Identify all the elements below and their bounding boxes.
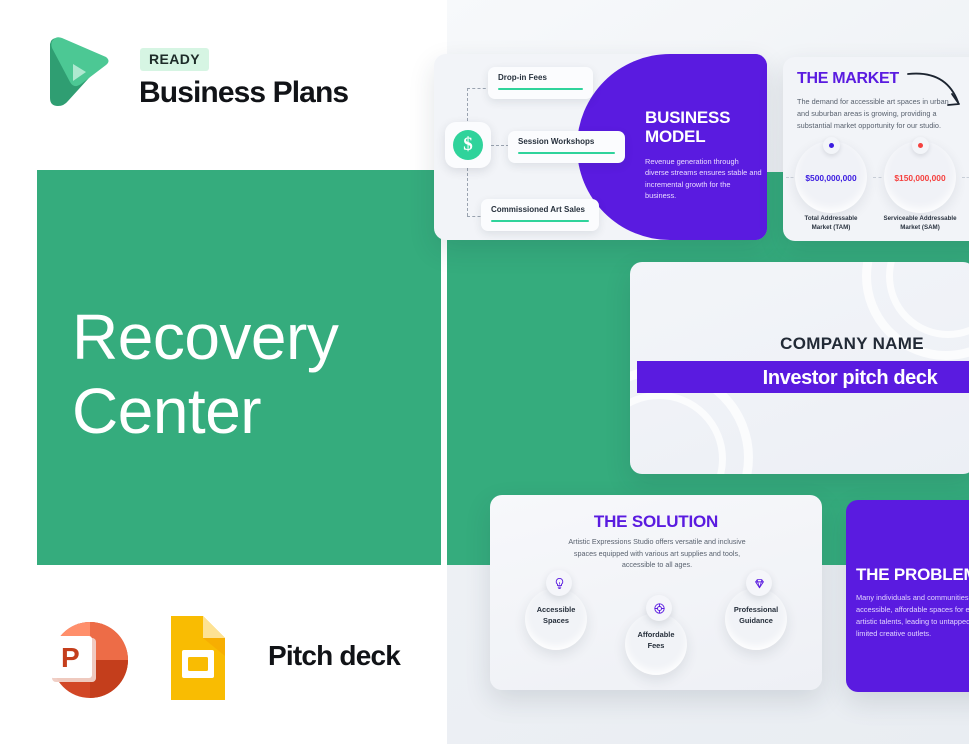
caption-line2: Market (TAM)	[787, 224, 875, 233]
play-arrow-logo-icon	[40, 36, 110, 112]
brand-logo: READY Business Plans	[40, 34, 420, 120]
problem-body: Many individuals and communities lack ac…	[856, 592, 969, 640]
revenue-stream-item-2[interactable]: Session Workshops	[508, 131, 625, 163]
company-name-title: COMPANY NAME	[742, 334, 962, 354]
business-model-body: Revenue generation through diverse strea…	[645, 156, 763, 202]
business-model-title-line1: BUSINESS	[645, 108, 730, 127]
hero-title-line2: Center	[72, 374, 432, 448]
revenue-stream-label: Commissioned Art Sales	[491, 205, 589, 214]
powerpoint-icon: P	[40, 612, 132, 704]
caption-line2: Market (SAM)	[876, 224, 964, 233]
ready-badge: READY	[140, 48, 209, 71]
poster-root: READY Business Plans Recovery Center P P…	[0, 0, 969, 744]
market-metric-caption-2: Serviceable Addressable Market (SAM)	[876, 215, 964, 232]
curved-arrow-icon	[906, 68, 968, 112]
revenue-stream-item-3[interactable]: Commissioned Art Sales	[481, 199, 599, 231]
label-line1: Professional	[725, 605, 787, 616]
business-model-title: BUSINESS MODEL	[645, 108, 730, 147]
underline-accent	[498, 88, 583, 90]
problem-title: THE PROBLEM	[856, 565, 969, 585]
solution-pillar-label-3: Professional Guidance	[725, 605, 787, 626]
underline-accent	[491, 220, 589, 222]
solution-title: THE SOLUTION	[490, 512, 822, 532]
format-label: Pitch deck	[268, 640, 400, 672]
market-metric-value-2: $150,000,000	[884, 173, 956, 183]
market-rail-right	[962, 177, 969, 178]
solution-pillar-label-2: Affordable Fees	[625, 630, 687, 651]
caption-line1: Serviceable Addressable	[876, 215, 964, 224]
lightbulb-icon	[546, 570, 572, 596]
market-metric-caption-1: Total Addressable Market (TAM)	[787, 215, 875, 232]
diamond-icon	[746, 570, 772, 596]
google-slides-icon	[165, 612, 231, 704]
underline-accent	[518, 152, 615, 154]
brand-wordmark: Business Plans	[139, 76, 348, 110]
solution-body: Artistic Expressions Studio offers versa…	[562, 536, 752, 571]
market-title: THE MARKET	[797, 70, 899, 88]
business-model-title-line2: MODEL	[645, 127, 730, 146]
market-pin-2	[918, 143, 923, 148]
caption-line1: Total Addressable	[787, 215, 875, 224]
lifebuoy-icon	[646, 595, 672, 621]
revenue-stream-label: Drop-in Fees	[498, 73, 583, 82]
market-pin-1	[829, 143, 834, 148]
revenue-stream-label: Session Workshops	[518, 137, 615, 146]
market-metric-value-1: $500,000,000	[795, 173, 867, 183]
label-line1: Accessible	[525, 605, 587, 616]
label-line2: Guidance	[725, 616, 787, 627]
page-title: Recovery Center	[72, 300, 432, 448]
svg-text:P: P	[61, 642, 80, 673]
dollar-coin-icon: $	[445, 122, 491, 168]
solution-pillar-label-1: Accessible Spaces	[525, 605, 587, 626]
revenue-stream-item-1[interactable]: Drop-in Fees	[488, 67, 593, 99]
label-line2: Spaces	[525, 616, 587, 627]
currency-symbol: $	[453, 130, 483, 160]
company-name-subtitle: Investor pitch deck	[700, 367, 969, 390]
label-line1: Affordable	[625, 630, 687, 641]
hero-title-line1: Recovery	[72, 300, 432, 374]
label-line2: Fees	[625, 641, 687, 652]
